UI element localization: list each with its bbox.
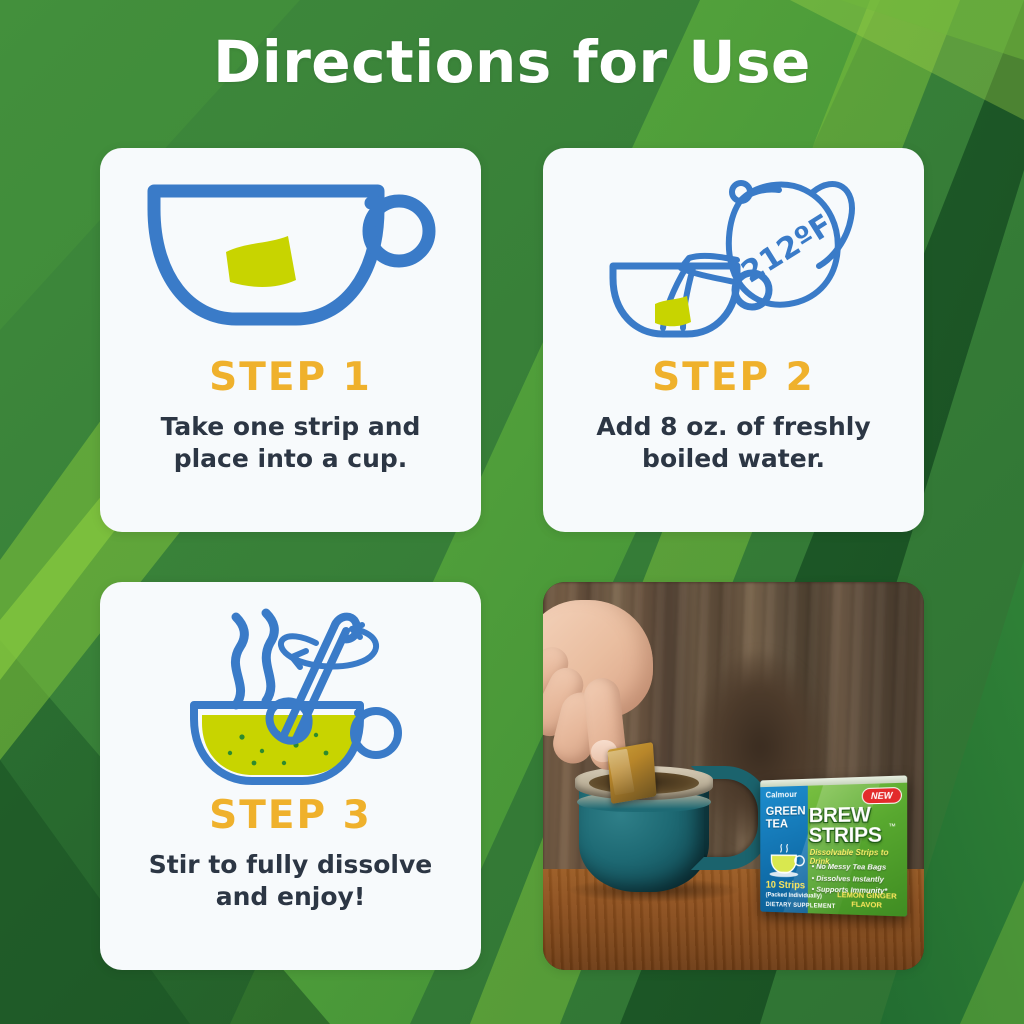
product-name-text: BREW STRIPS (809, 805, 882, 845)
cup-with-spoon-stirring-icon (100, 590, 481, 790)
teapot-pouring-icon: 212ºF (543, 162, 924, 352)
step-label-2: STEP 2 (652, 358, 815, 397)
step-description-1: Take one strip and place into a cup. (139, 411, 443, 475)
flavor-text: LEMON GINGER FLAVOR (837, 890, 897, 910)
step-card-3: STEP 3 Stir to fully dissolve and enjoy! (100, 582, 481, 970)
box-teacup-illustration (768, 844, 807, 878)
step-description-3: Stir to fully dissolve and enjoy! (127, 849, 454, 913)
infographic-canvas: Directions for Use STEP 1 Take one strip… (0, 0, 1024, 1024)
variant-text: GREEN TEA (766, 805, 806, 830)
new-badge: NEW (862, 787, 902, 804)
step-label-3: STEP 3 (209, 796, 372, 835)
product-lifestyle-photo: Calmour GREEN TEA NEW BREW STRIPS ™ Diss… (543, 582, 924, 970)
teapot-temperature-text: 212ºF (735, 208, 838, 291)
page-title: Directions for Use (0, 28, 1024, 96)
teacup-with-strip-icon (100, 162, 481, 352)
step-description-2: Add 8 oz. of freshly boiled water. (574, 411, 892, 475)
step-label-1: STEP 1 (209, 358, 372, 397)
product-box: Calmour GREEN TEA NEW BREW STRIPS ™ Diss… (760, 775, 907, 916)
step-card-1: STEP 1 Take one strip and place into a c… (100, 148, 481, 532)
step-card-2: 212ºF STEP 2 Add 8 oz. of freshly boiled… (543, 148, 924, 532)
brand-logo-text: Calmour (766, 790, 797, 800)
strip-count-text: 10 Strips (766, 880, 805, 892)
trademark-symbol: ™ (888, 823, 895, 830)
